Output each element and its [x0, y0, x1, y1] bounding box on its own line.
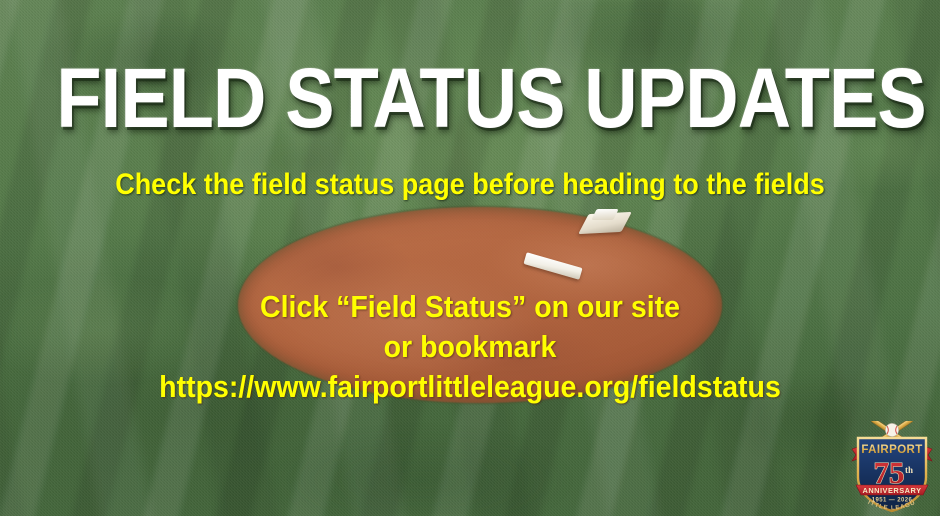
page-title: FIELD STATUS UPDATES	[56, 56, 883, 140]
logo-anniversary-word: ANNIVERSARY	[862, 486, 921, 495]
logo-milestone-suffix: th	[905, 465, 913, 475]
cta-instruction-line: Click “Field Status” on our site	[38, 287, 903, 327]
call-to-action-block: Click “Field Status” on our site or book…	[38, 287, 903, 407]
field-status-url[interactable]: https://www.fairportlittleleague.org/fie…	[38, 367, 903, 407]
baseball-base	[584, 213, 626, 233]
field-status-banner: FIELD STATUS UPDATES Check the field sta…	[0, 0, 940, 516]
subtitle-text: Check the field status page before headi…	[47, 170, 893, 200]
cta-bookmark-line: or bookmark	[38, 327, 903, 367]
baseball-icon	[885, 423, 898, 436]
fairport-little-league-75th-anniversary-logo[interactable]: FAIRPORT 75 th ANNIVERSARY 1951 — 2026 L…	[851, 421, 933, 513]
logo-year-range: 1951 — 2026	[872, 498, 913, 504]
